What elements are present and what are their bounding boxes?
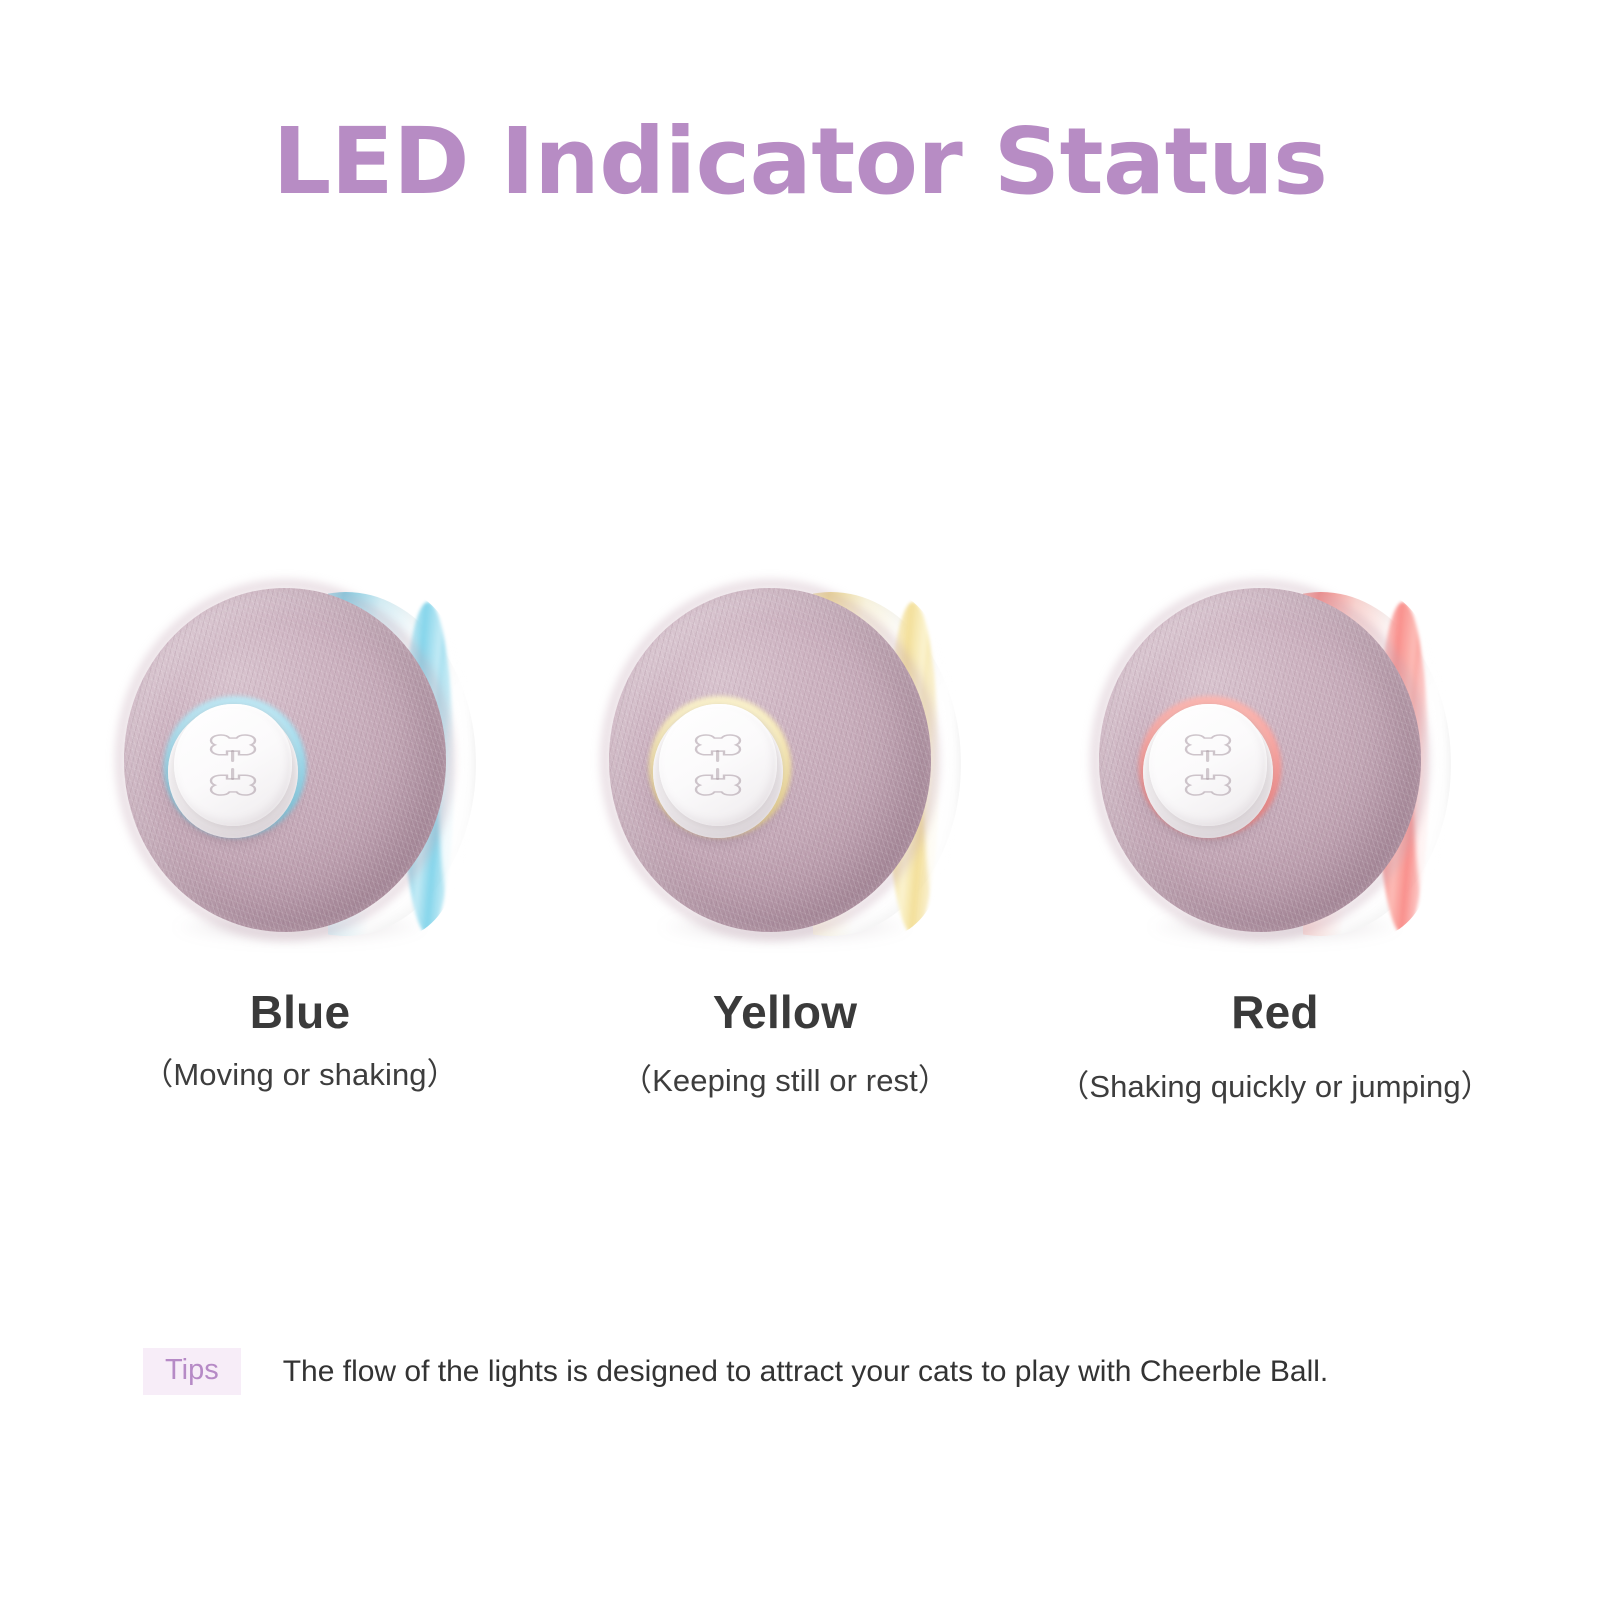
caption-red: Red （Shaking quickly or jumping）: [1045, 985, 1505, 1106]
caption-description: （Keeping still or rest）: [555, 1055, 1015, 1100]
bone-icon: [207, 728, 259, 802]
caption-blue: Blue （Moving or shaking）: [70, 985, 530, 1094]
page-title: LED Indicator Status: [0, 108, 1600, 215]
indicator-card-blue: [90, 580, 510, 1000]
product-ball-yellow: [609, 588, 961, 940]
tips-badge: Tips: [143, 1348, 241, 1395]
caption-title: Yellow: [555, 985, 1015, 1039]
bone-icon: [1182, 728, 1234, 802]
power-button[interactable]: [174, 704, 292, 826]
power-button[interactable]: [659, 704, 777, 826]
caption-title: Blue: [70, 985, 530, 1039]
power-button[interactable]: [1149, 704, 1267, 826]
led-indicator-gallery: [0, 580, 1600, 1000]
caption-description: （Moving or shaking）: [70, 1049, 530, 1094]
product-ball-red: [1099, 588, 1451, 940]
caption-description: （Shaking quickly or jumping）: [1045, 1061, 1505, 1106]
bone-icon: [692, 728, 744, 802]
indicator-card-yellow: [575, 580, 995, 1000]
indicator-card-red: [1065, 580, 1485, 1000]
tips-text: The flow of the lights is designed to at…: [283, 1355, 1329, 1389]
caption-yellow: Yellow （Keeping still or rest）: [555, 985, 1015, 1100]
product-ball-blue: [124, 588, 476, 940]
caption-row: Blue （Moving or shaking） Yellow （Keeping…: [0, 985, 1600, 1105]
tips-row: Tips The flow of the lights is designed …: [143, 1348, 1328, 1395]
caption-title: Red: [1045, 985, 1505, 1039]
